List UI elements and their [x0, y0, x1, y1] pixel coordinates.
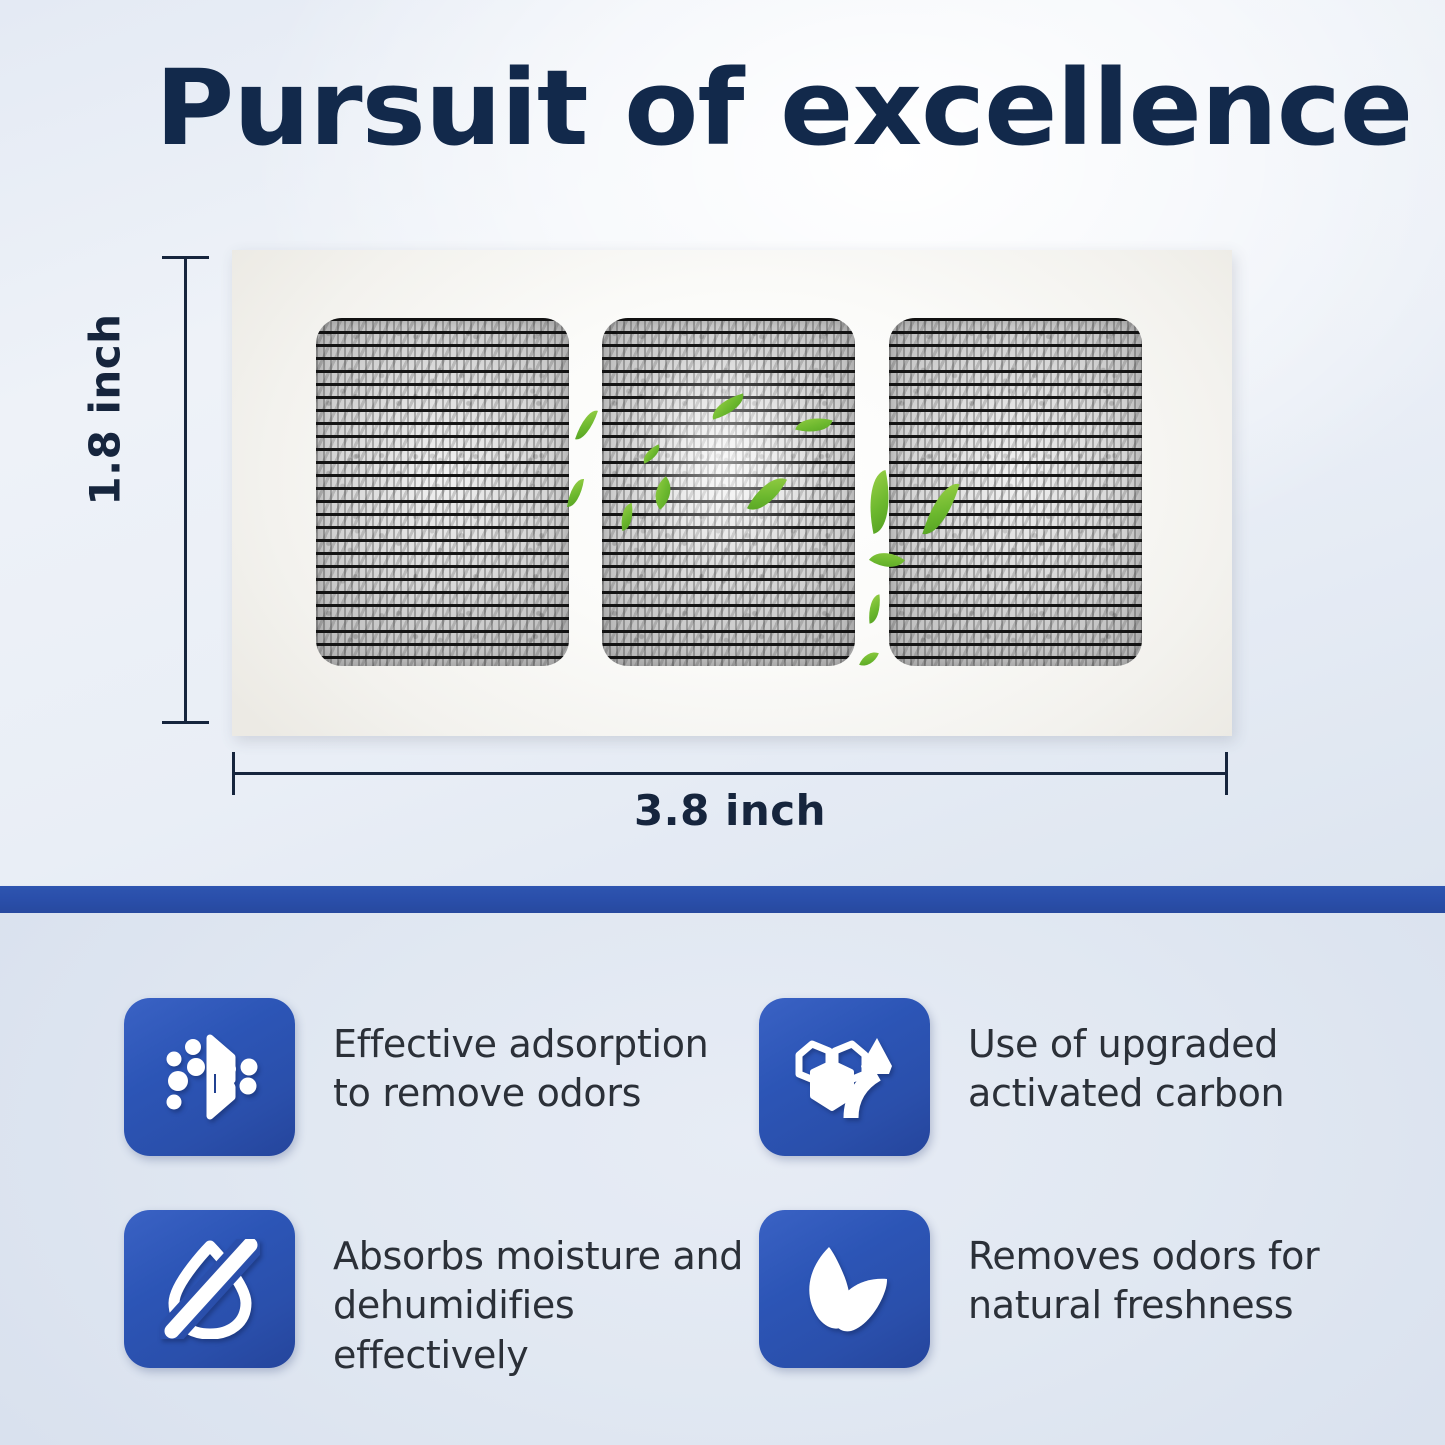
- leaf-decoration: [867, 594, 883, 623]
- feature-label: Absorbs moisture and dehumidifies effect…: [333, 1210, 753, 1380]
- filter-panel-group: [232, 250, 1232, 736]
- infographic-page: Pursuit of excellence: [0, 0, 1445, 1445]
- feature-label: Use of upgraded activated carbon: [968, 998, 1398, 1119]
- adsorption-particles-icon: [158, 1029, 262, 1125]
- height-dimension-label: 1.8 inch: [81, 295, 130, 525]
- leaves-icon: [795, 1243, 895, 1335]
- filter-panel: [889, 318, 1142, 666]
- leaf-decoration: [575, 407, 598, 443]
- feature-icon-tile: [124, 1210, 295, 1368]
- width-dimension-label: 3.8 inch: [232, 786, 1228, 835]
- width-dimension-line: [232, 772, 1228, 775]
- feature-item: Effective adsorption to remove odors: [124, 998, 753, 1156]
- no-moisture-droplet-icon: [160, 1239, 260, 1339]
- feature-item: Use of upgraded activated carbon: [759, 998, 1398, 1156]
- page-title: Pursuit of excellence: [155, 56, 1382, 160]
- section-divider: [0, 886, 1445, 913]
- feature-item: Absorbs moisture and dehumidifies effect…: [124, 1210, 753, 1380]
- carbon-molecule-arrow-icon: [791, 1030, 899, 1124]
- leaf-decoration: [567, 477, 584, 509]
- feature-label: Effective adsorption to remove odors: [333, 998, 753, 1119]
- height-dimension-tick-top: [162, 256, 209, 259]
- feature-label: Removes odors for natural freshness: [968, 1210, 1398, 1331]
- feature-icon-tile: [759, 1210, 930, 1368]
- filter-panel: [316, 318, 569, 666]
- height-dimension-line: [184, 256, 187, 724]
- feature-icon-tile: [124, 998, 295, 1156]
- filter-panel: [602, 318, 855, 666]
- height-dimension-tick-bottom: [162, 721, 209, 724]
- hero-section: Pursuit of excellence: [0, 0, 1445, 886]
- feature-item: Removes odors for natural freshness: [759, 1210, 1398, 1368]
- features-section: Effective adsorption to remove odors Use…: [0, 913, 1445, 1445]
- product-image: [232, 250, 1232, 736]
- feature-icon-tile: [759, 998, 930, 1156]
- leaf-decoration: [859, 648, 879, 670]
